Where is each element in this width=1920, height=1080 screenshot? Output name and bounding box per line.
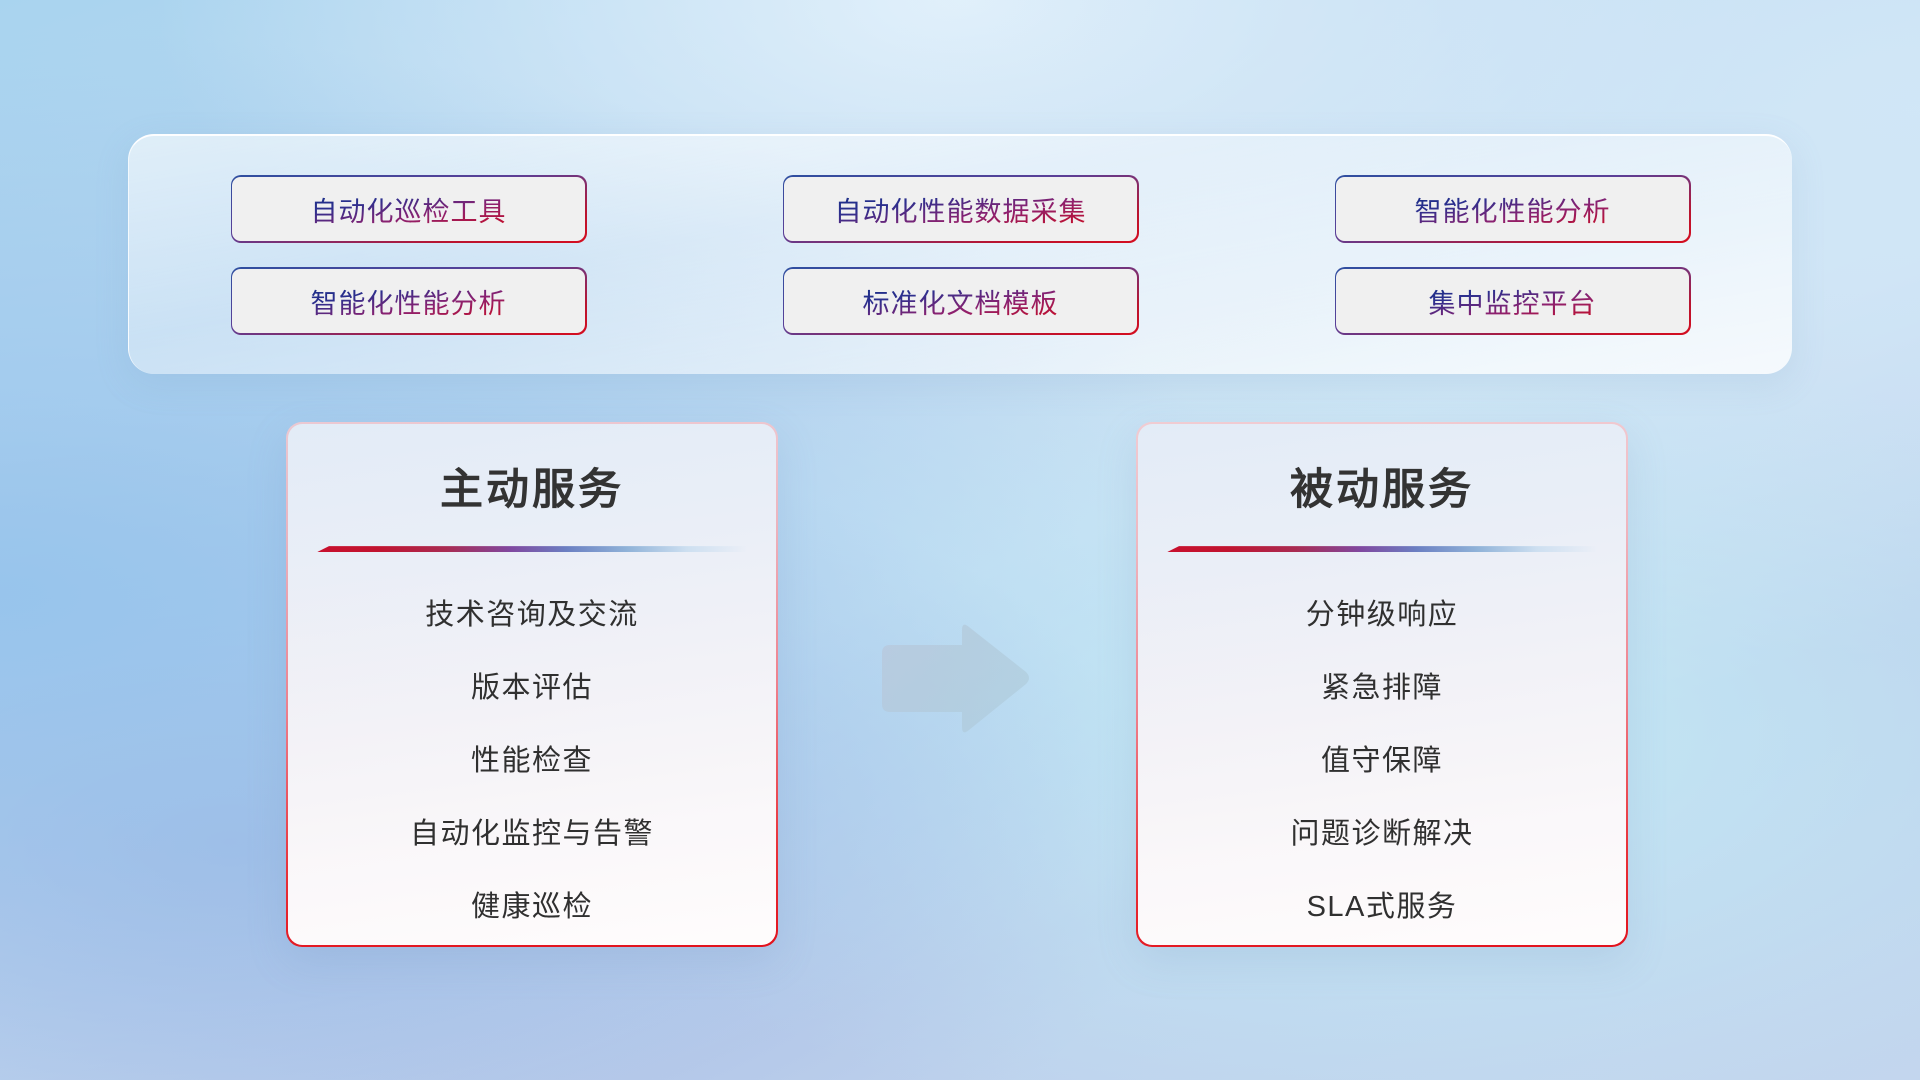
capability-chip-inner: 自动化性能数据采集 — [784, 177, 1137, 242]
card-title: 被动服务 — [1290, 466, 1474, 515]
slide-canvas: 自动化巡检工具 自动化性能数据采集 智能化性能分析 智能化性能分析 — [0, 0, 1920, 1080]
capability-chip[interactable]: 自动化巡检工具 — [231, 175, 587, 243]
service-card-body: 被动服务 分钟级响应 紧急排障 值守保障 问题诊断解决 SLA式服务 — [1138, 424, 1627, 946]
service-list-item: 版本评估 — [471, 652, 593, 725]
service-list-item: 自动化监控与告警 — [410, 798, 654, 871]
service-item-list: 分钟级响应 紧急排障 值守保障 问题诊断解决 SLA式服务 — [1168, 579, 1597, 944]
service-list-item: 问题诊断解决 — [1290, 798, 1473, 871]
service-list-item: 性能检查 — [471, 725, 593, 798]
capability-chip-label: 智能化性能分析 — [1415, 190, 1611, 229]
service-list-item: 健康巡检 — [471, 871, 593, 944]
card-title: 主动服务 — [440, 466, 624, 515]
capability-chip-label: 自动化性能数据采集 — [835, 190, 1087, 229]
capability-chip-label: 智能化性能分析 — [311, 282, 507, 321]
capability-chip-inner: 自动化巡检工具 — [232, 177, 585, 242]
capability-chip[interactable]: 集中监控平台 — [1335, 267, 1691, 335]
capability-chip-inner: 集中监控平台 — [1336, 269, 1689, 334]
capabilities-panel: 自动化巡检工具 自动化性能数据采集 智能化性能分析 智能化性能分析 — [128, 134, 1792, 374]
service-card-proactive[interactable]: 主动服务 技术咨询及交流 版本评估 性能检查 自动化监控与告警 健康巡检 — [286, 422, 778, 947]
arrow-right-icon — [874, 620, 1034, 738]
capability-chip-inner: 标准化文档模板 — [784, 269, 1137, 334]
capability-chip-label: 标准化文档模板 — [863, 282, 1059, 321]
capability-chip[interactable]: 自动化性能数据采集 — [783, 175, 1139, 243]
capability-chip-label: 自动化巡检工具 — [311, 190, 507, 229]
service-list-item: 值守保障 — [1321, 725, 1443, 798]
capability-chip[interactable]: 标准化文档模板 — [783, 267, 1139, 335]
capability-chip[interactable]: 智能化性能分析 — [231, 267, 587, 335]
service-card-reactive[interactable]: 被动服务 分钟级响应 紧急排障 值守保障 问题诊断解决 SLA式服务 — [1136, 422, 1628, 947]
service-card-body: 主动服务 技术咨询及交流 版本评估 性能检查 自动化监控与告警 健康巡检 — [288, 424, 777, 946]
card-divider-bar — [317, 546, 747, 552]
service-item-list: 技术咨询及交流 版本评估 性能检查 自动化监控与告警 健康巡检 — [318, 579, 747, 944]
capability-chip-inner: 智能化性能分析 — [232, 269, 585, 334]
service-list-item: 技术咨询及交流 — [425, 579, 639, 652]
service-list-item: 分钟级响应 — [1306, 579, 1459, 652]
service-list-item: SLA式服务 — [1307, 871, 1458, 944]
service-list-item: 紧急排障 — [1321, 652, 1443, 725]
card-divider-bar — [1167, 546, 1597, 552]
capability-chip-grid: 自动化巡检工具 自动化性能数据采集 智能化性能分析 智能化性能分析 — [231, 175, 1691, 335]
capability-chip-label: 集中监控平台 — [1429, 282, 1597, 321]
capability-chip-inner: 智能化性能分析 — [1336, 177, 1689, 242]
capability-chip[interactable]: 智能化性能分析 — [1335, 175, 1691, 243]
